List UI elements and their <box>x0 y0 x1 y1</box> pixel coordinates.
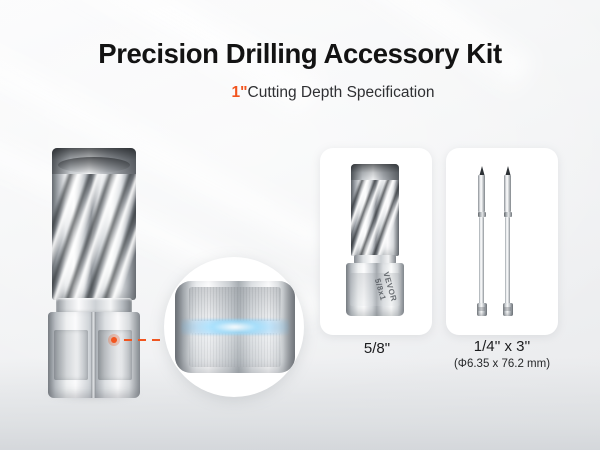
subtitle-accent-value: 1" <box>232 84 248 101</box>
shank-flat <box>54 330 88 380</box>
caption-pilot-pins: 1/4'' x 3'' (Φ6.35 x 76.2 mm) <box>427 338 577 370</box>
pilot-pin <box>476 166 487 318</box>
pin-shaft <box>479 217 484 305</box>
caption-size: 5/8" <box>364 340 390 357</box>
caption-metric: (Φ6.35 x 76.2 mm) <box>427 358 577 370</box>
hero-annular-cutter <box>48 148 146 398</box>
pilot-pin <box>502 166 513 318</box>
product-banner: Precision Drilling Accessory Kit 1"Cutti… <box>0 0 600 450</box>
shank-seam <box>91 312 96 398</box>
pin-collar <box>503 303 513 316</box>
caption-size: 1/4'' x 3'' <box>474 338 530 355</box>
magnified-shank <box>175 281 295 373</box>
weldon-shank: VEVOR 5/8x1 <box>346 263 404 316</box>
pin-shaft <box>505 217 510 305</box>
product-card-pilot-pins <box>446 148 558 335</box>
pin-head <box>478 175 485 212</box>
subtitle-text: Cutting Depth Specification <box>248 84 435 101</box>
page-subtitle: 1"Cutting Depth Specification <box>0 84 600 102</box>
magnifier-circle <box>164 257 304 397</box>
callout-dot-icon <box>108 334 120 346</box>
small-annular-cutter: VEVOR 5/8x1 <box>346 164 404 316</box>
page-title: Precision Drilling Accessory Kit <box>0 38 600 70</box>
callout-dashed-line <box>124 339 168 341</box>
cutter-teeth <box>52 148 136 174</box>
highlight-glow <box>181 319 289 335</box>
pin-head <box>504 175 511 212</box>
shank-engraving: VEVOR 5/8x1 <box>349 263 400 316</box>
magnified-flat-top <box>189 287 281 321</box>
magnified-flat-bottom <box>189 333 281 367</box>
cutter-teeth <box>351 164 399 180</box>
product-card-annular-cutter: VEVOR 5/8x1 <box>320 148 432 335</box>
pin-collar <box>477 303 487 316</box>
weldon-shank <box>48 312 140 398</box>
